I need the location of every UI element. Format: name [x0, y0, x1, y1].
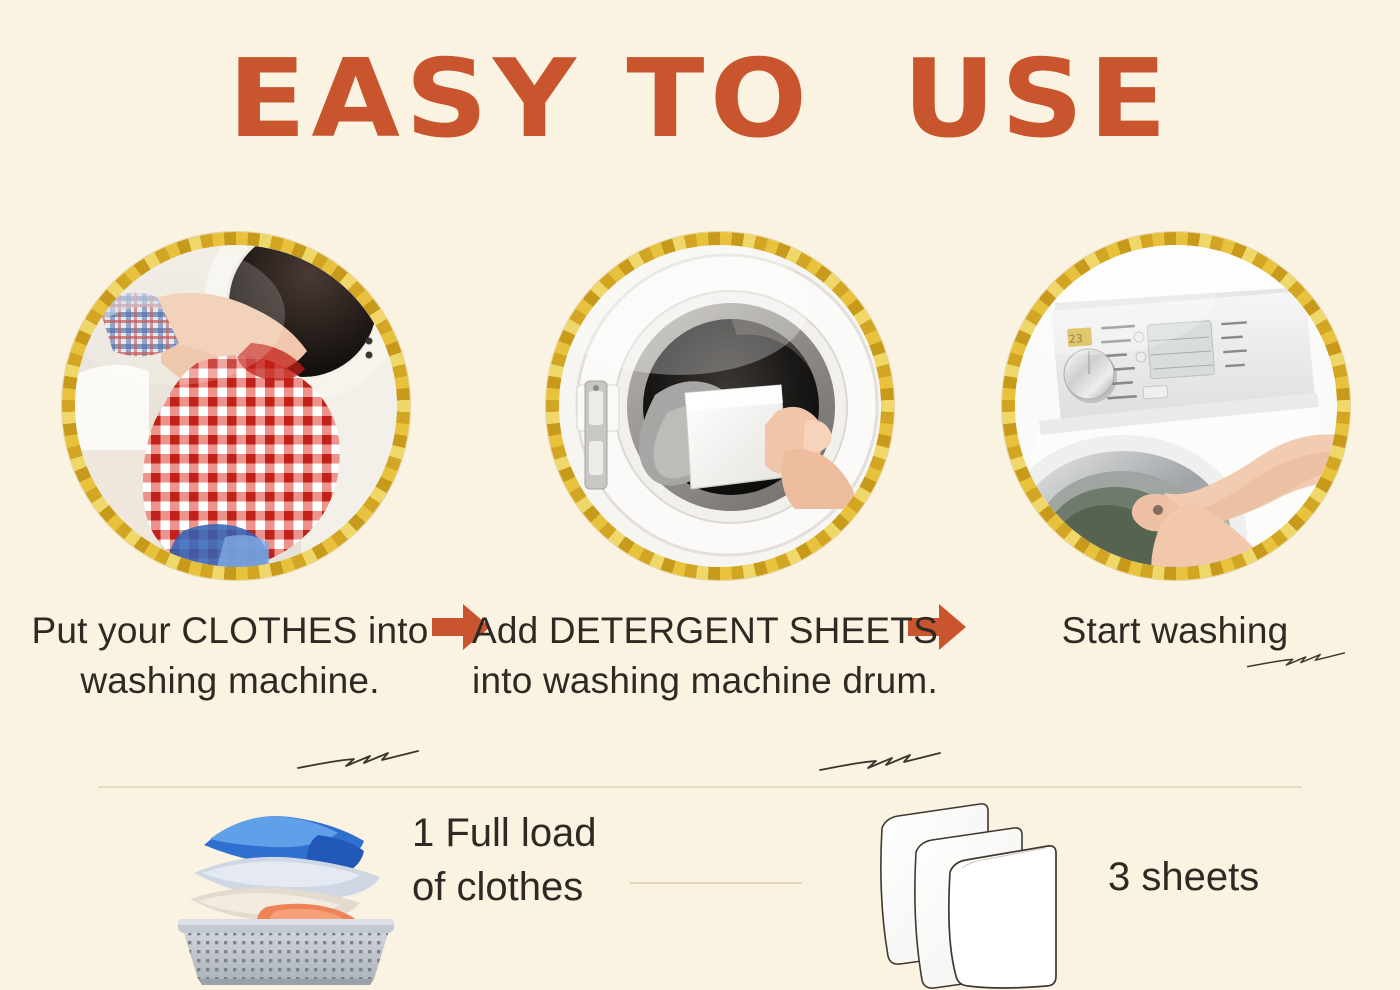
squiggle-underline-icon [296, 748, 420, 774]
step-2-caption: Add DETERGENT SHEETS into washing machin… [470, 606, 940, 707]
pressing-start-button-photo: 23 [1015, 245, 1337, 567]
page-title: EASY TO USE [0, 46, 1400, 154]
infographic-page: EASY TO USE [0, 0, 1400, 990]
dosage-right-label: 3 sheets [1108, 850, 1400, 904]
squiggle-underline-icon [818, 750, 942, 776]
detergent-sheets-illustration [872, 794, 1116, 990]
step-3-image-circle: 23 [1002, 232, 1350, 580]
step-1-image-circle [62, 232, 410, 580]
dosage-connector-line [630, 882, 802, 884]
steps-row: 23 [0, 232, 1400, 582]
step-2-image-circle [546, 232, 894, 580]
step-1-caption: Put your CLOTHES into washing machine. [20, 606, 440, 707]
squiggle-underline-icon [1246, 648, 1346, 674]
section-divider [98, 786, 1302, 788]
loading-clothes-into-washer-photo [75, 245, 397, 567]
laundry-basket-photo [168, 795, 404, 985]
inserting-detergent-sheet-photo [559, 245, 881, 567]
dosage-left-label: 1 Full load of clothes [412, 806, 622, 915]
